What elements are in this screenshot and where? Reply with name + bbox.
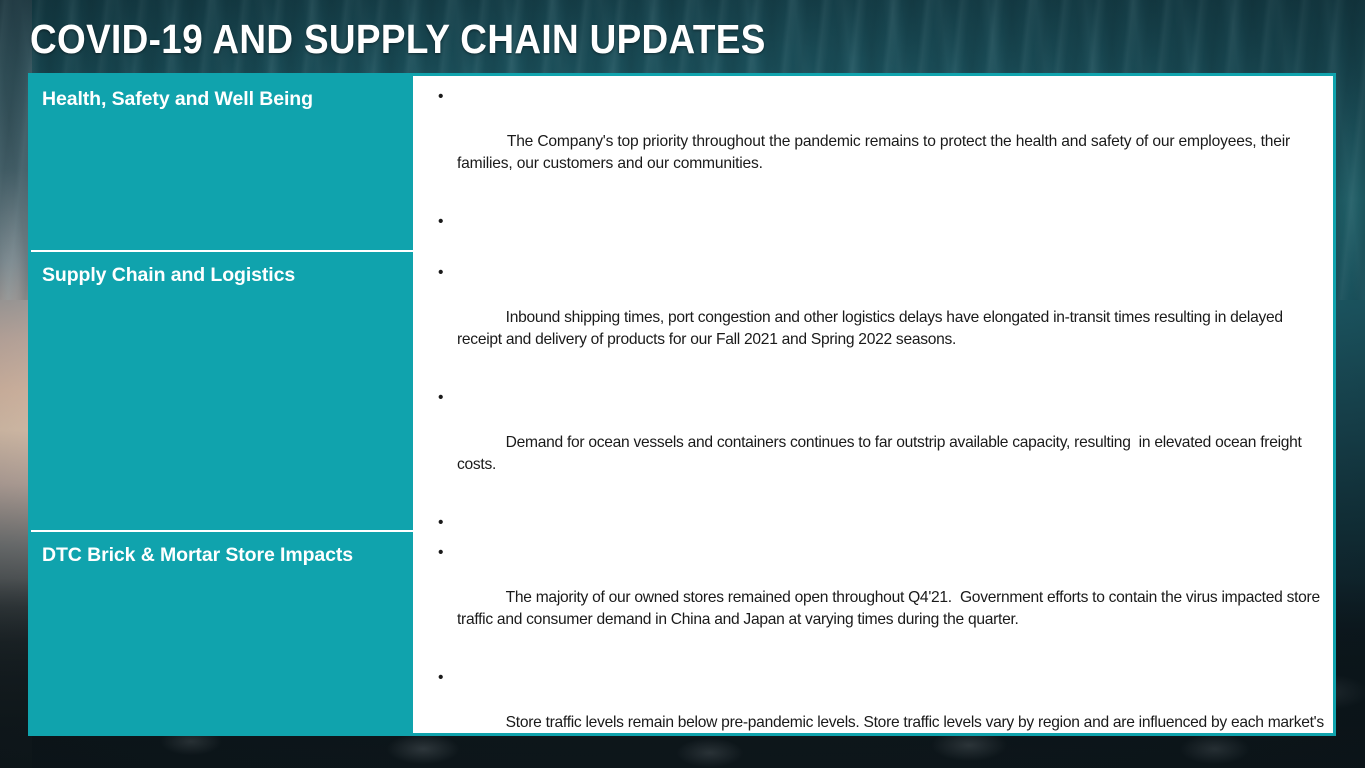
updates-table: Health, Safety and Well Being • The Comp… [28,73,1336,736]
page-title: COVID-19 AND SUPPLY CHAIN UPDATES [30,14,766,64]
slide-title-bar: COVID-19 AND SUPPLY CHAIN UPDATES [30,14,847,66]
category-cell-health-safety: Health, Safety and Well Being [31,76,415,250]
content-cell-supply-chain: • Inbound shipping times, port congestio… [415,252,1333,530]
content-cell-health-safety: • The Company's top priority throughout … [415,76,1333,250]
category-label: DTC Brick & Mortar Store Impacts [42,543,413,567]
list-item: • The Company's top priority throughout … [433,86,1325,198]
bullet-point-icon: • [438,667,443,689]
category-cell-supply-chain: Supply Chain and Logistics [31,252,415,530]
list-item: • Demand for ocean vessels and container… [433,387,1325,499]
list-item-text: Store traffic levels remain below pre-pa… [457,714,1328,733]
list-item: • Store traffic levels remain below pre-… [433,667,1325,733]
table-row: DTC Brick & Mortar Store Impacts • The m… [31,532,1333,733]
bullet-point-icon: • [438,387,443,409]
slide-canvas: COVID-19 AND SUPPLY CHAIN UPDATES Health… [0,0,1365,768]
list-item: • Inbound shipping times, port congestio… [433,262,1325,374]
category-cell-dtc-stores: DTC Brick & Mortar Store Impacts [31,532,415,733]
bullet-point-icon: • [438,86,443,108]
bullet-list: • The majority of our owned stores remai… [433,542,1325,733]
list-item-text: The Company's top priority throughout th… [457,133,1294,172]
bullet-list: • Inbound shipping times, port congestio… [433,262,1325,530]
bullet-point-icon: • [438,262,443,284]
bullet-point-icon: • [438,211,443,233]
table-row: Supply Chain and Logistics • Inbound shi… [31,252,1333,532]
category-label: Supply Chain and Logistics [42,263,413,287]
list-item-text: Demand for ocean vessels and containers … [457,434,1306,473]
table-row: Health, Safety and Well Being • The Comp… [31,76,1333,252]
list-item-text: The majority of our owned stores remaine… [457,589,1324,628]
bullet-point-icon: • [438,512,443,530]
list-item-text: Inbound shipping times, port congestion … [457,309,1287,348]
list-item: • The majority of our owned stores remai… [433,542,1325,654]
list-item: • We are continually adapting business o… [433,211,1325,250]
content-cell-dtc-stores: • The majority of our owned stores remai… [415,532,1333,733]
bullet-point-icon: • [438,542,443,564]
list-item: • Our 2022 financial outlook incorporate… [433,512,1325,530]
bullet-list: • The Company's top priority throughout … [433,86,1325,250]
category-label: Health, Safety and Well Being [42,87,413,111]
